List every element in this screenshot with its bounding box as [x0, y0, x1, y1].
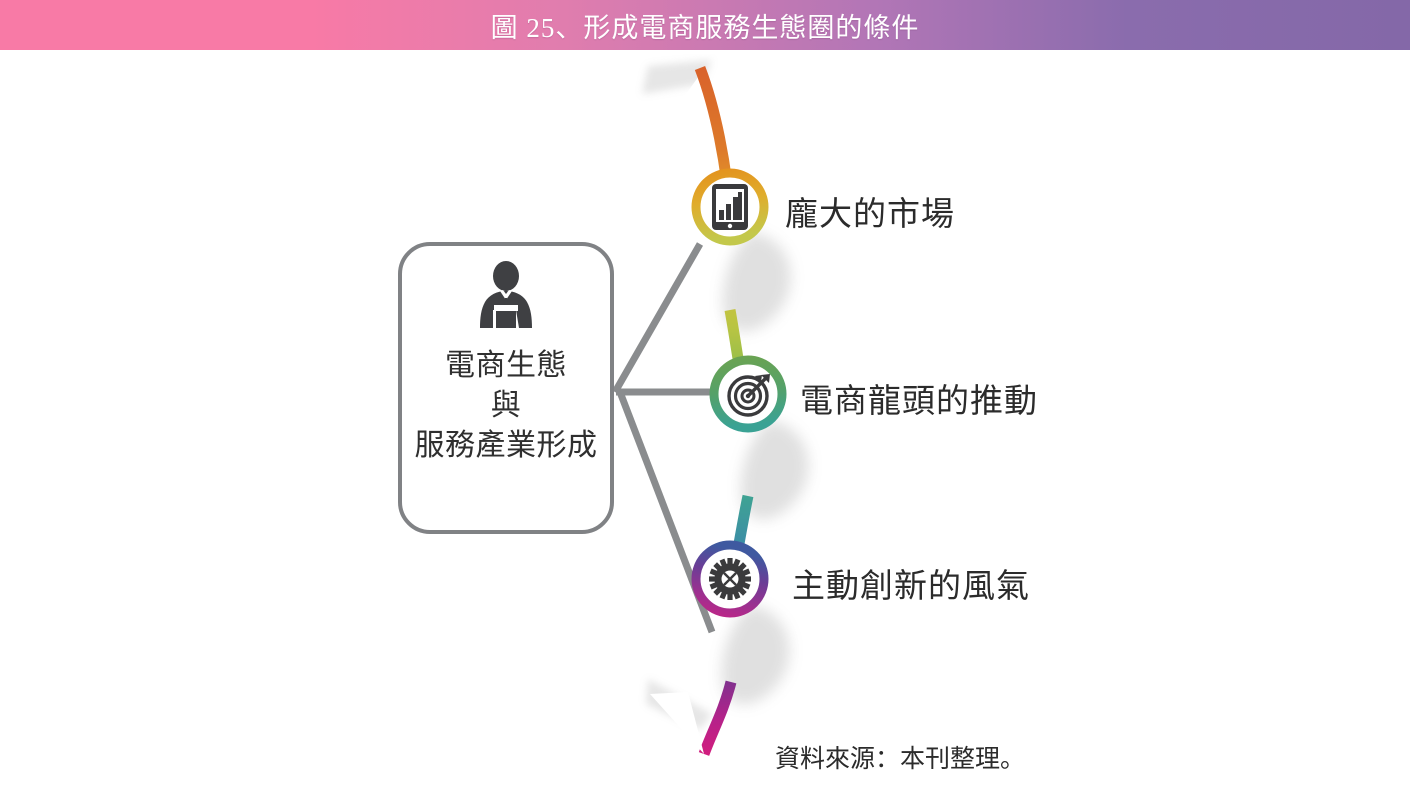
node-label-leader[interactable]: 電商龍頭的推動 [800, 374, 1038, 422]
node-label-market[interactable]: 龐大的市場 [785, 187, 955, 235]
gear-icon [709, 558, 751, 600]
center-concept-box[interactable]: 電商生態 與 服務產業形成 [398, 242, 614, 534]
tablet-bar-chart-icon [712, 184, 748, 230]
ribbon-tail-bottom [650, 692, 704, 754]
businessman-icon [469, 260, 543, 340]
diagram-svg [0, 54, 1410, 791]
node-shadows [722, 232, 809, 704]
diagram-canvas: 電商生態 與 服務產業形成 龐大的市場 電商龍頭的推動 主動創新的風氣 資料來源… [0, 54, 1410, 791]
source-note: 資料來源：本刊整理。 [775, 739, 1025, 775]
node-label-innovation[interactable]: 主動創新的風氣 [792, 559, 1030, 607]
slide-root: 圖 25、形成電商服務生態圈的條件 [0, 0, 1410, 791]
title-bar: 圖 25、形成電商服務生態圈的條件 [0, 0, 1410, 50]
page-title: 圖 25、形成電商服務生態圈的條件 [491, 6, 920, 45]
center-concept-label: 電商生態 與 服務產業形成 [415, 346, 598, 466]
